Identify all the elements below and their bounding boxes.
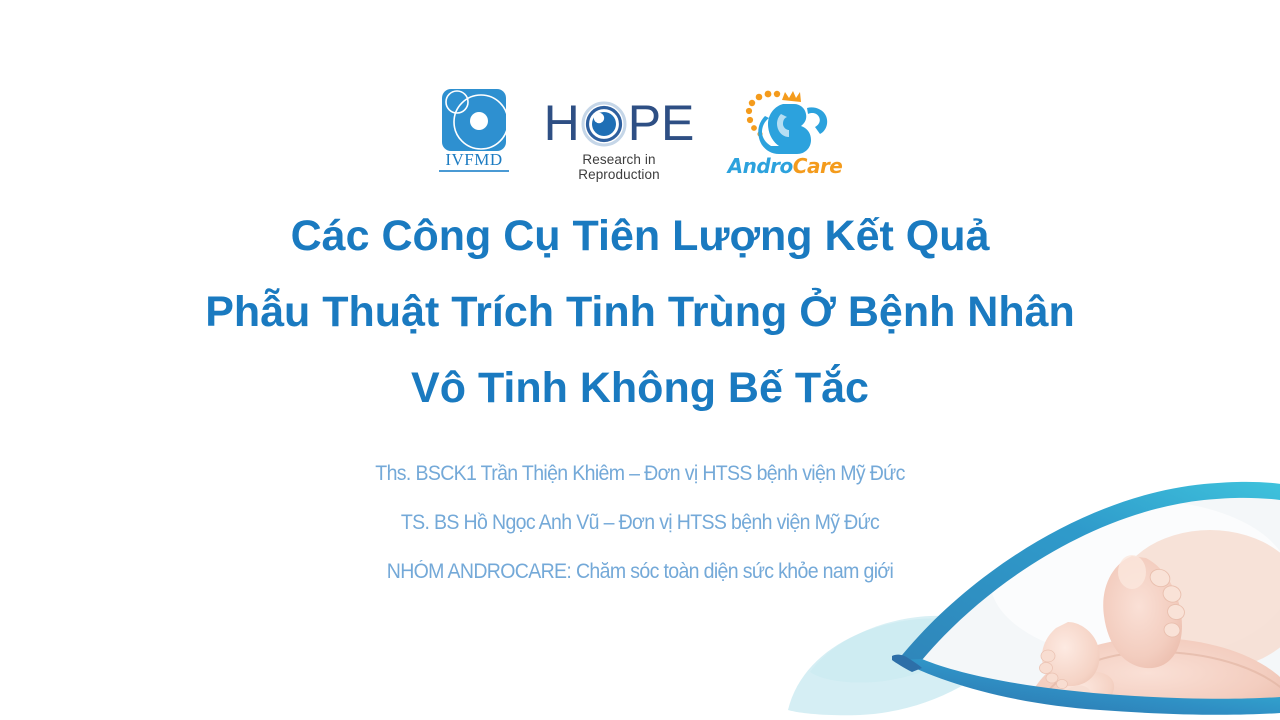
androcare-logo: AndroCare [721,88,849,182]
slide-title: Các Công Cụ Tiên Lượng Kết Quả Phẫu Thuậ… [0,198,1280,426]
ivfmd-underline [439,170,509,172]
ivfmd-logo: IVFMD [431,88,517,182]
androcare-word-andro: Andro [728,154,793,178]
logo-row: IVFMD H PE Research in Reproduction [0,88,1280,184]
hope-wordmark: H PE [543,96,695,150]
ivfmd-logo-text: IVFMD [431,150,517,170]
androcare-wordmark: AndroCare [721,156,849,176]
subtitle-line-author-1: Ths. BSCK1 Trần Thiện Khiêm – Đơn vị HTS… [45,449,1235,498]
title-line-1: Các Công Cụ Tiên Lượng Kết Quả [0,198,1280,274]
hope-logo: H PE Research in Reproduction [543,88,695,182]
androcare-mascot-icon [735,86,835,160]
ivfmd-mark-icon [441,88,507,152]
title-slide: IVFMD H PE Research in Reproduction [0,0,1280,720]
slide-subtitle: Ths. BSCK1 Trần Thiện Khiêm – Đơn vị HTS… [0,449,1280,596]
title-line-3: Vô Tinh Không Bế Tắc [0,350,1280,426]
hope-letter-h: H [544,98,580,148]
hope-letters-pe: PE [628,98,695,148]
subtitle-line-author-2: TS. BS Hồ Ngọc Anh Vũ – Đơn vị HTSS bệnh… [45,498,1235,547]
subtitle-line-group: NHÓM ANDROCARE: Chăm sóc toàn diện sức k… [45,547,1235,596]
ovum-eye-icon [581,101,627,147]
title-line-2: Phẫu Thuật Trích Tinh Trùng Ở Bệnh Nhân [0,274,1280,350]
leaf-shapes [788,616,1015,715]
androcare-word-care: Care [793,154,843,178]
hope-tagline: Research in Reproduction [543,152,695,182]
